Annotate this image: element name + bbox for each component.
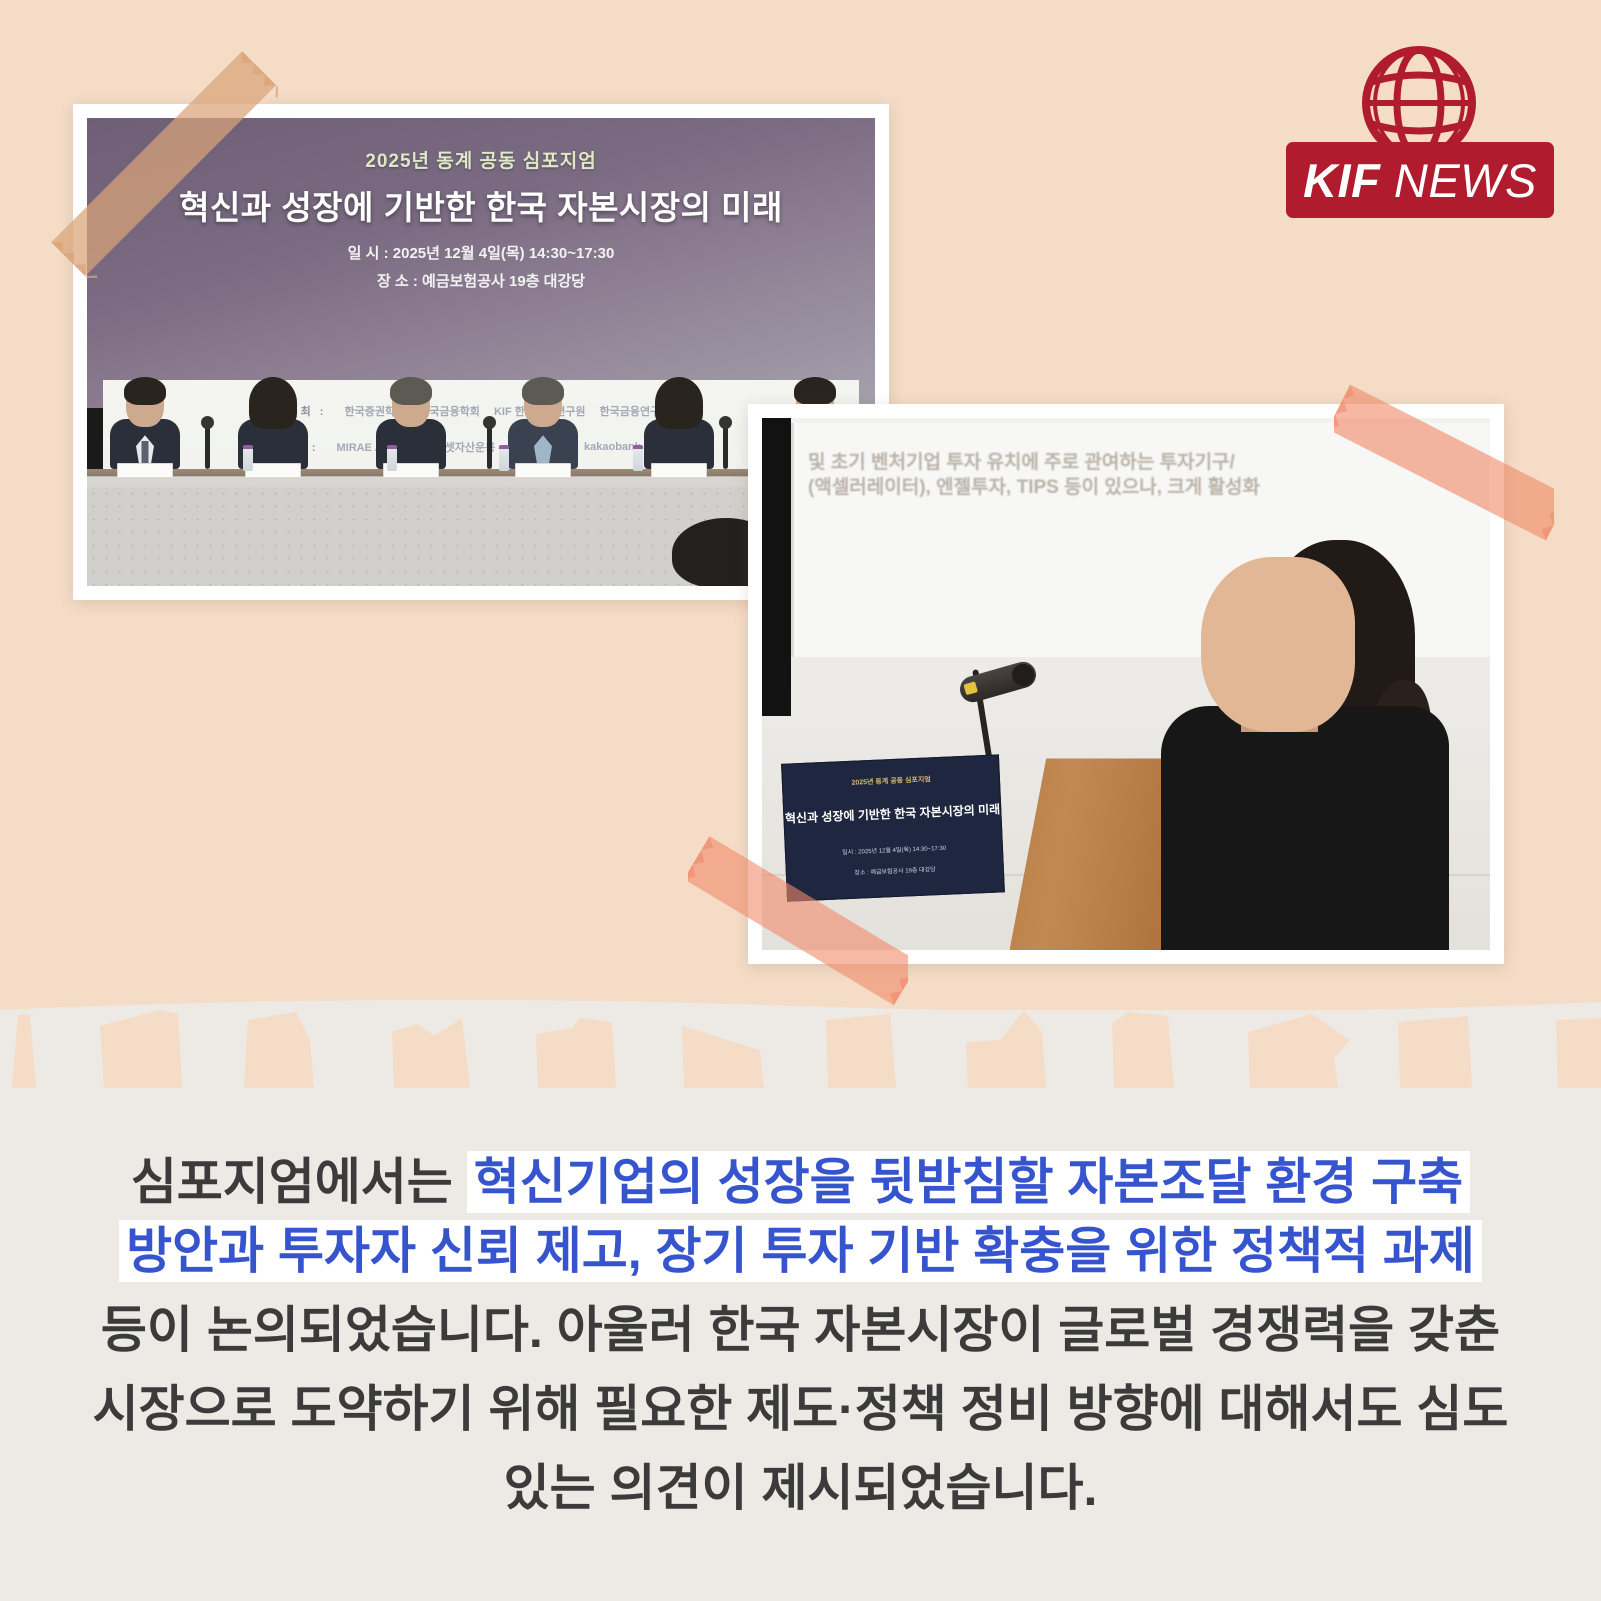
- nameplate-2: [245, 463, 301, 478]
- panelist-1: [109, 381, 181, 469]
- water-bottle-3: [499, 445, 509, 471]
- nameplate-4: [515, 463, 571, 478]
- panelist-5: [643, 381, 715, 469]
- panelist-4: [507, 381, 579, 469]
- podium-signboard: 2025년 동계 공동 심포지엄 혁신과 성장에 기반한 한국 자본시장의 미래…: [781, 754, 1005, 902]
- logo-wordmark-bar: KIF NEWS: [1286, 142, 1554, 218]
- water-bottle-4: [633, 445, 643, 471]
- slide-text-line-2: (액셀러레이터), 엔젤투자, TIPS 등이 있으나, 크게 활성화: [808, 472, 1260, 499]
- caption-line-4: 시장으로 도약하기 위해 필요한 제도·정책 정비 방향에 대해서도 심도: [0, 1377, 1601, 1442]
- microphone-3: [723, 423, 728, 469]
- slide-title: 혁신과 성장에 기반한 한국 자본시장의 미래: [87, 181, 875, 229]
- nameplate-1: [117, 463, 173, 478]
- microphone-1: [205, 423, 210, 469]
- caption-block: 심포지엄에서는 혁신기업의 성장을 뒷받침할 자본조달 환경 구축 방안과 투자…: [0, 1150, 1601, 1525]
- panelist-3: [375, 381, 447, 469]
- caption-line-2-highlight: 방안과 투자자 신뢰 제고, 장기 투자 기반 확충을 위한 정책적 과제: [119, 1220, 1482, 1282]
- nameplate-5: [651, 463, 707, 478]
- podium-sign-datetime: 일시 : 2025년 12월 4일(목) 14:30~17:30: [786, 839, 1003, 857]
- caption-line-1-highlight: 혁신기업의 성장을 뒷받침할 자본조달 환경 구축: [467, 1151, 1470, 1213]
- news-card: KIF NEWS 2025년 동계 공동 심포지엄 혁신과 성장에 기반한 한국…: [0, 0, 1601, 1601]
- slide-venue: 장 소 : 예금보험공사 19층 대강당: [87, 270, 875, 291]
- caption-line-3: 등이 논의되었습니다. 아울러 한국 자본시장이 글로벌 경쟁력을 갖춘: [0, 1298, 1601, 1363]
- slide-datetime: 일 시 : 2025년 12월 4일(목) 14:30~17:30: [87, 242, 875, 263]
- caption-line-2: 방안과 투자자 신뢰 제고, 장기 투자 기반 확충을 위한 정책적 과제: [0, 1219, 1601, 1284]
- slide-text-line-1: 및 초기 벤처기업 투자 유치에 주로 관여하는 투자기구/: [808, 447, 1235, 474]
- kif-news-logo: KIF NEWS: [1286, 46, 1554, 218]
- wall-dark-strip: [762, 418, 791, 716]
- logo-text-kif: KIF: [1303, 154, 1380, 207]
- logo-text-news: NEWS: [1380, 154, 1537, 207]
- presenter-figure: [1141, 514, 1476, 950]
- caption-line-5: 있는 의견이 제시되었습니다.: [0, 1456, 1601, 1521]
- caption-line-1: 심포지엄에서는 혁신기업의 성장을 뒷받침할 자본조달 환경 구축: [0, 1150, 1601, 1215]
- presenter-at-podium-photo: 및 초기 벤처기업 투자 유치에 주로 관여하는 투자기구/ (액셀러레이터),…: [762, 418, 1490, 950]
- podium-sign-venue: 장소 : 예금보험공사 19층 대강당: [787, 861, 1004, 879]
- microphone-2: [487, 423, 492, 469]
- presenter-photo-frame: 및 초기 벤처기업 투자 유치에 주로 관여하는 투자기구/ (액셀러레이터),…: [748, 404, 1504, 964]
- podium-sign-title: 혁신과 성장에 기반한 한국 자본시장의 미래: [784, 800, 1001, 826]
- torn-paper-divider: [0, 988, 1601, 1088]
- water-bottle-2: [387, 445, 397, 471]
- caption-line-1-prefix: 심포지엄에서는: [131, 1154, 467, 1210]
- slide-kicker: 2025년 동계 공동 심포지엄: [87, 146, 875, 173]
- water-bottle-1: [243, 445, 253, 471]
- podium-sign-kicker: 2025년 동계 공동 심포지엄: [783, 771, 1000, 790]
